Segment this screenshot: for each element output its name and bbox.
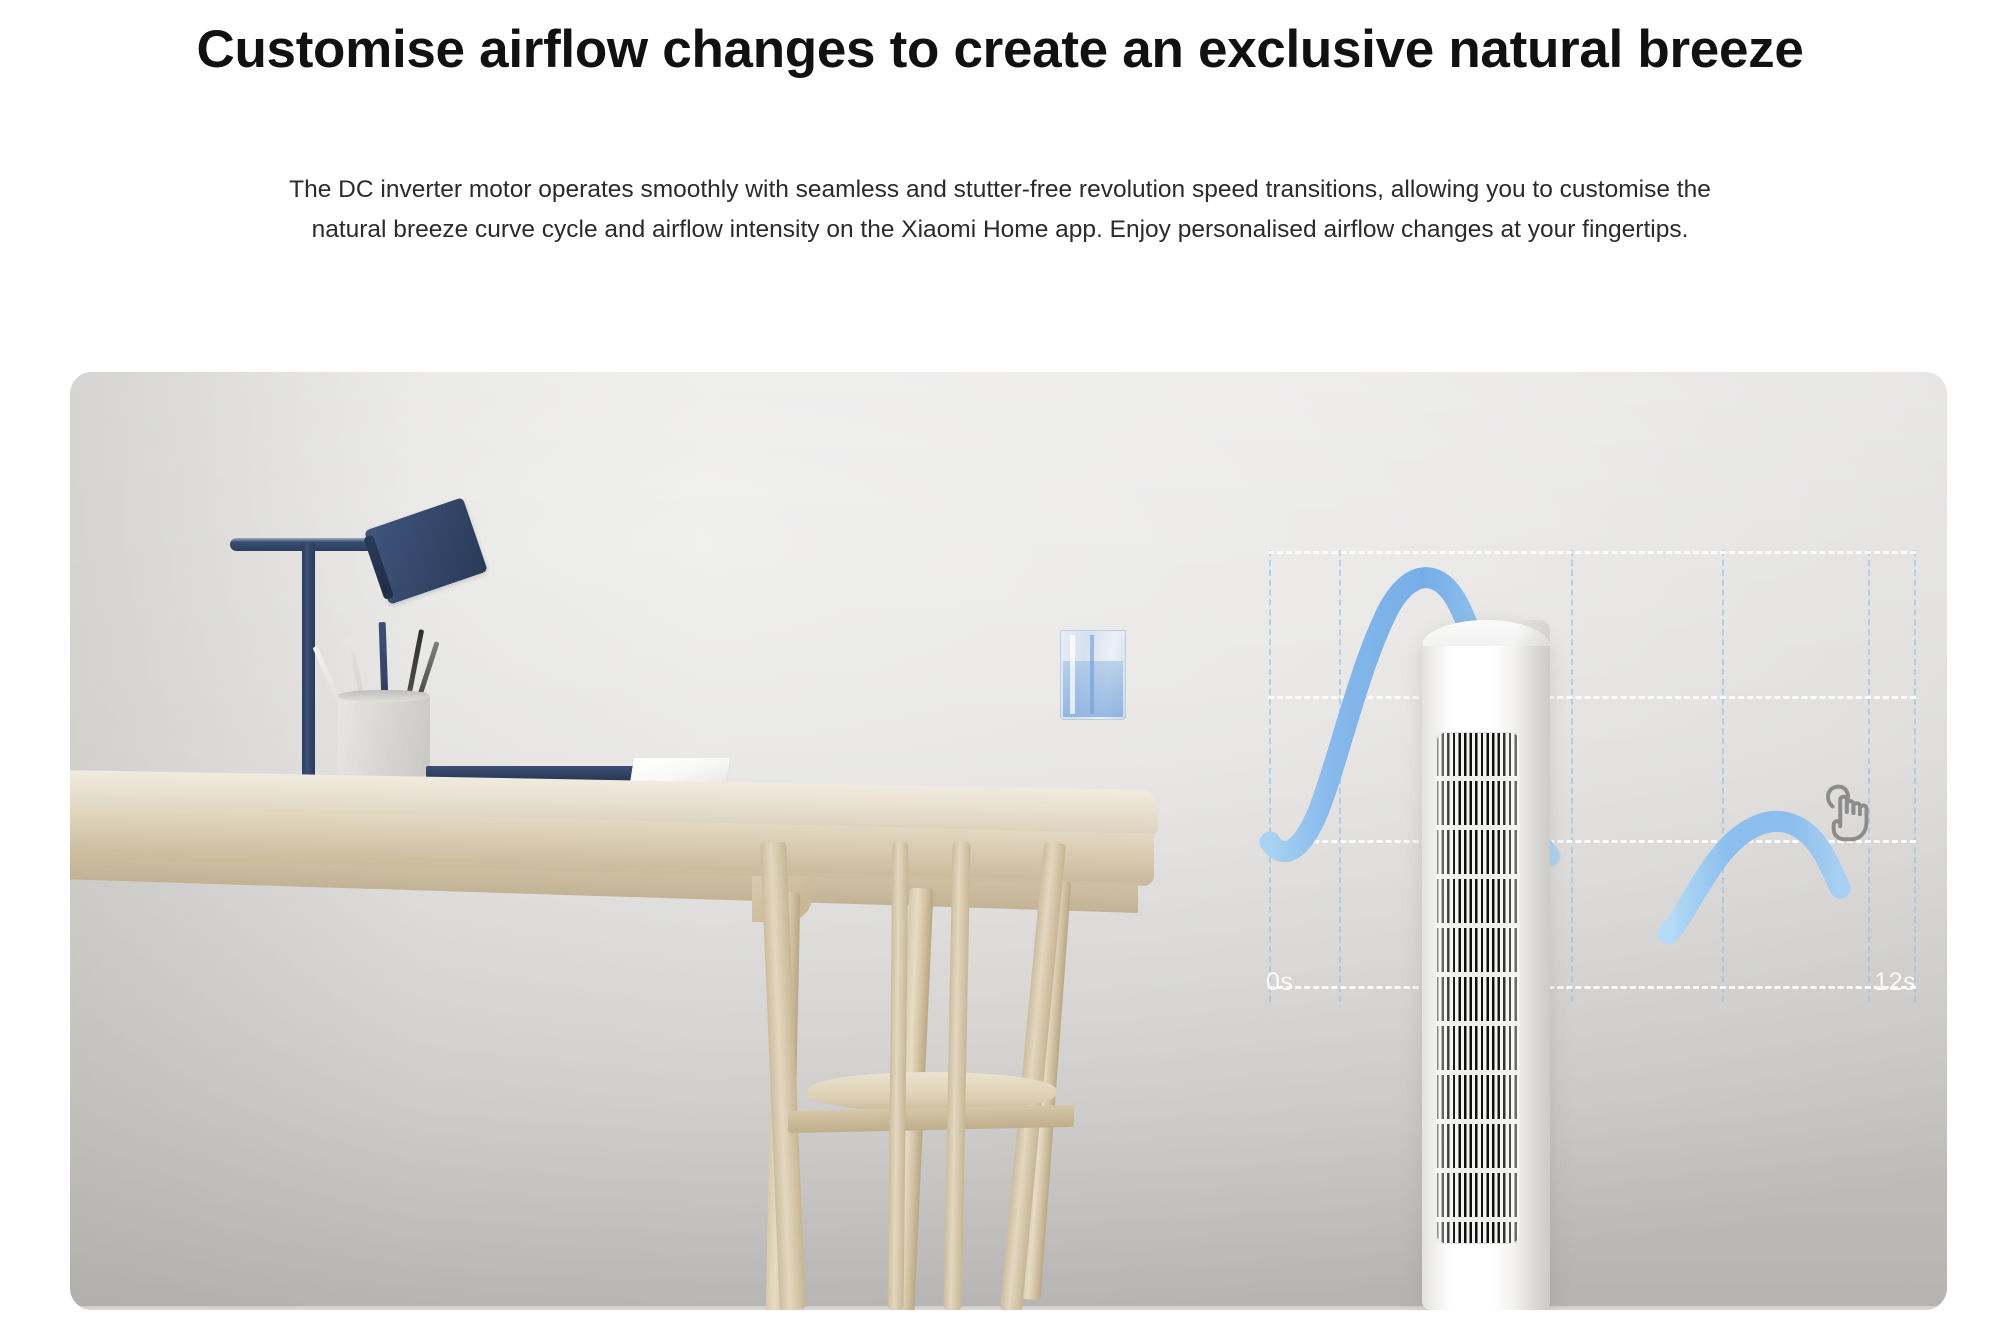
fan-body-highlight — [1514, 620, 1550, 1310]
fan-air-outlet-grill — [1436, 732, 1520, 1244]
hand-tap-icon[interactable] — [1814, 778, 1884, 848]
pen-cup-rim — [338, 690, 430, 702]
glass-highlight — [1070, 635, 1075, 714]
xiaomi-tower-fan — [1422, 620, 1550, 1310]
lamp-head — [364, 497, 488, 605]
page-root: Customise airflow changes to create an e… — [0, 0, 2000, 1327]
water-glass — [1060, 630, 1126, 720]
glass-reflection — [1090, 635, 1094, 714]
wooden-chair — [770, 842, 1130, 1310]
chair-leg-2 — [888, 842, 909, 1310]
chart-x-tick-end: 12s — [1874, 968, 1916, 997]
airflow-curve-lines — [1268, 550, 1916, 1002]
page-title: Customise airflow changes to create an e… — [0, 18, 2000, 83]
paper-sheet — [630, 758, 730, 782]
hero-photo-card: A sign endings BKS — [70, 372, 1947, 1310]
pen-cup — [338, 662, 430, 780]
chart-x-tick-start: 0s — [1266, 968, 1293, 997]
page-subtitle: The DC inverter motor operates smoothly … — [255, 170, 1745, 249]
airflow-curve-chart: 0s 12s — [1268, 550, 1916, 1002]
